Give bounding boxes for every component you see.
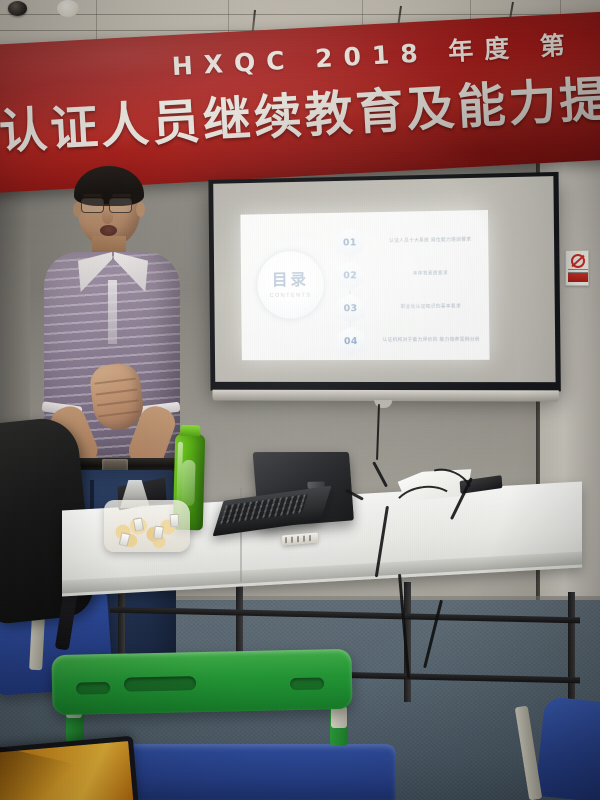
toc-item-text: 认证人员十大系统 岗位能力培训要求 <box>377 237 485 247</box>
slide-heading-cn: 目录 <box>272 271 309 287</box>
toc-list: 01 认证人员十大系统 岗位能力培训要求 02 本体育素质要求 03 <box>336 224 486 358</box>
presenter-eyebrow-right <box>112 194 131 197</box>
toc-item-text: 本体育素质要求 <box>377 270 485 279</box>
no-smoking-sign <box>565 250 589 286</box>
projection-screen: 目录 CONTENTS 01 认证人员十大系统 岗位能力培训要求 02 <box>208 172 560 391</box>
presenter-nose <box>102 211 113 224</box>
toc-item-text: 职业化认证知识的基本要求 <box>377 304 485 313</box>
presentation-slide: 目录 CONTENTS 01 认证人员十大系统 岗位能力培训要求 02 <box>240 210 489 360</box>
photo-scene: HXQC 2018 年度 第 认证人员继续教育及能力提升 目录 CONTENTS… <box>0 0 600 800</box>
screen-surface: 目录 CONTENTS 01 认证人员十大系统 岗位能力培训要求 02 <box>213 176 555 382</box>
chair-leg-tip <box>331 706 347 728</box>
snack-label <box>119 532 131 547</box>
remote-buttons[interactable] <box>285 535 315 544</box>
snack-label <box>153 525 164 539</box>
shirt-placket <box>108 280 117 344</box>
slide-heading-en: CONTENTS <box>270 292 312 298</box>
hexagon-badge-icon: 01 <box>336 228 364 258</box>
orange-panel-object[interactable] <box>0 736 139 800</box>
presenter-eyebrow-left <box>83 194 102 197</box>
hexagon-badge-icon: 02 <box>336 261 364 291</box>
presenter-ear-right <box>136 202 145 217</box>
bottle-cap[interactable] <box>180 425 200 437</box>
green-chair-backrest[interactable] <box>51 649 352 715</box>
snack-label <box>133 517 144 531</box>
hexagon-badge-icon: 03 <box>337 294 365 324</box>
presenter-mouth <box>100 225 117 236</box>
ceiling-speaker-icon <box>8 1 27 16</box>
sign-red-bar <box>568 273 588 282</box>
backrest-slot <box>290 677 324 690</box>
glasses-bridge-icon <box>104 204 110 206</box>
glasses-lens-left-icon <box>81 198 104 213</box>
laptop-keyboard[interactable] <box>220 494 308 524</box>
list-item: 03 职业化认证知识的基本要求 <box>337 291 486 325</box>
contents-circle: 目录 CONTENTS <box>257 251 324 319</box>
list-item: 01 认证人员十大系统 岗位能力培训要求 <box>336 224 485 259</box>
hexagon-badge-icon: 04 <box>337 327 365 357</box>
list-item: 02 本体育素质要求 <box>336 258 485 293</box>
toc-number: 03 <box>344 303 358 314</box>
blue-chair-seat[interactable] <box>96 744 396 800</box>
glasses-lens-right-icon <box>109 198 132 213</box>
toc-number: 02 <box>343 270 357 281</box>
list-item: 04 认证机构对于能力评价的 能力培养案例分析 <box>337 324 486 358</box>
toc-number: 01 <box>343 237 357 248</box>
snack-label <box>170 514 180 528</box>
bottle-window <box>181 460 195 506</box>
ceiling-dome-light-icon <box>57 0 79 17</box>
blue-chair-right[interactable] <box>535 696 600 800</box>
snack-bag[interactable] <box>104 500 190 552</box>
toc-item-text: 认证机构对于能力评价的 能力培养案例分析 <box>378 337 486 345</box>
toc-connector-line <box>349 236 351 348</box>
toc-number: 04 <box>344 336 358 347</box>
backrest-slot <box>76 682 110 695</box>
